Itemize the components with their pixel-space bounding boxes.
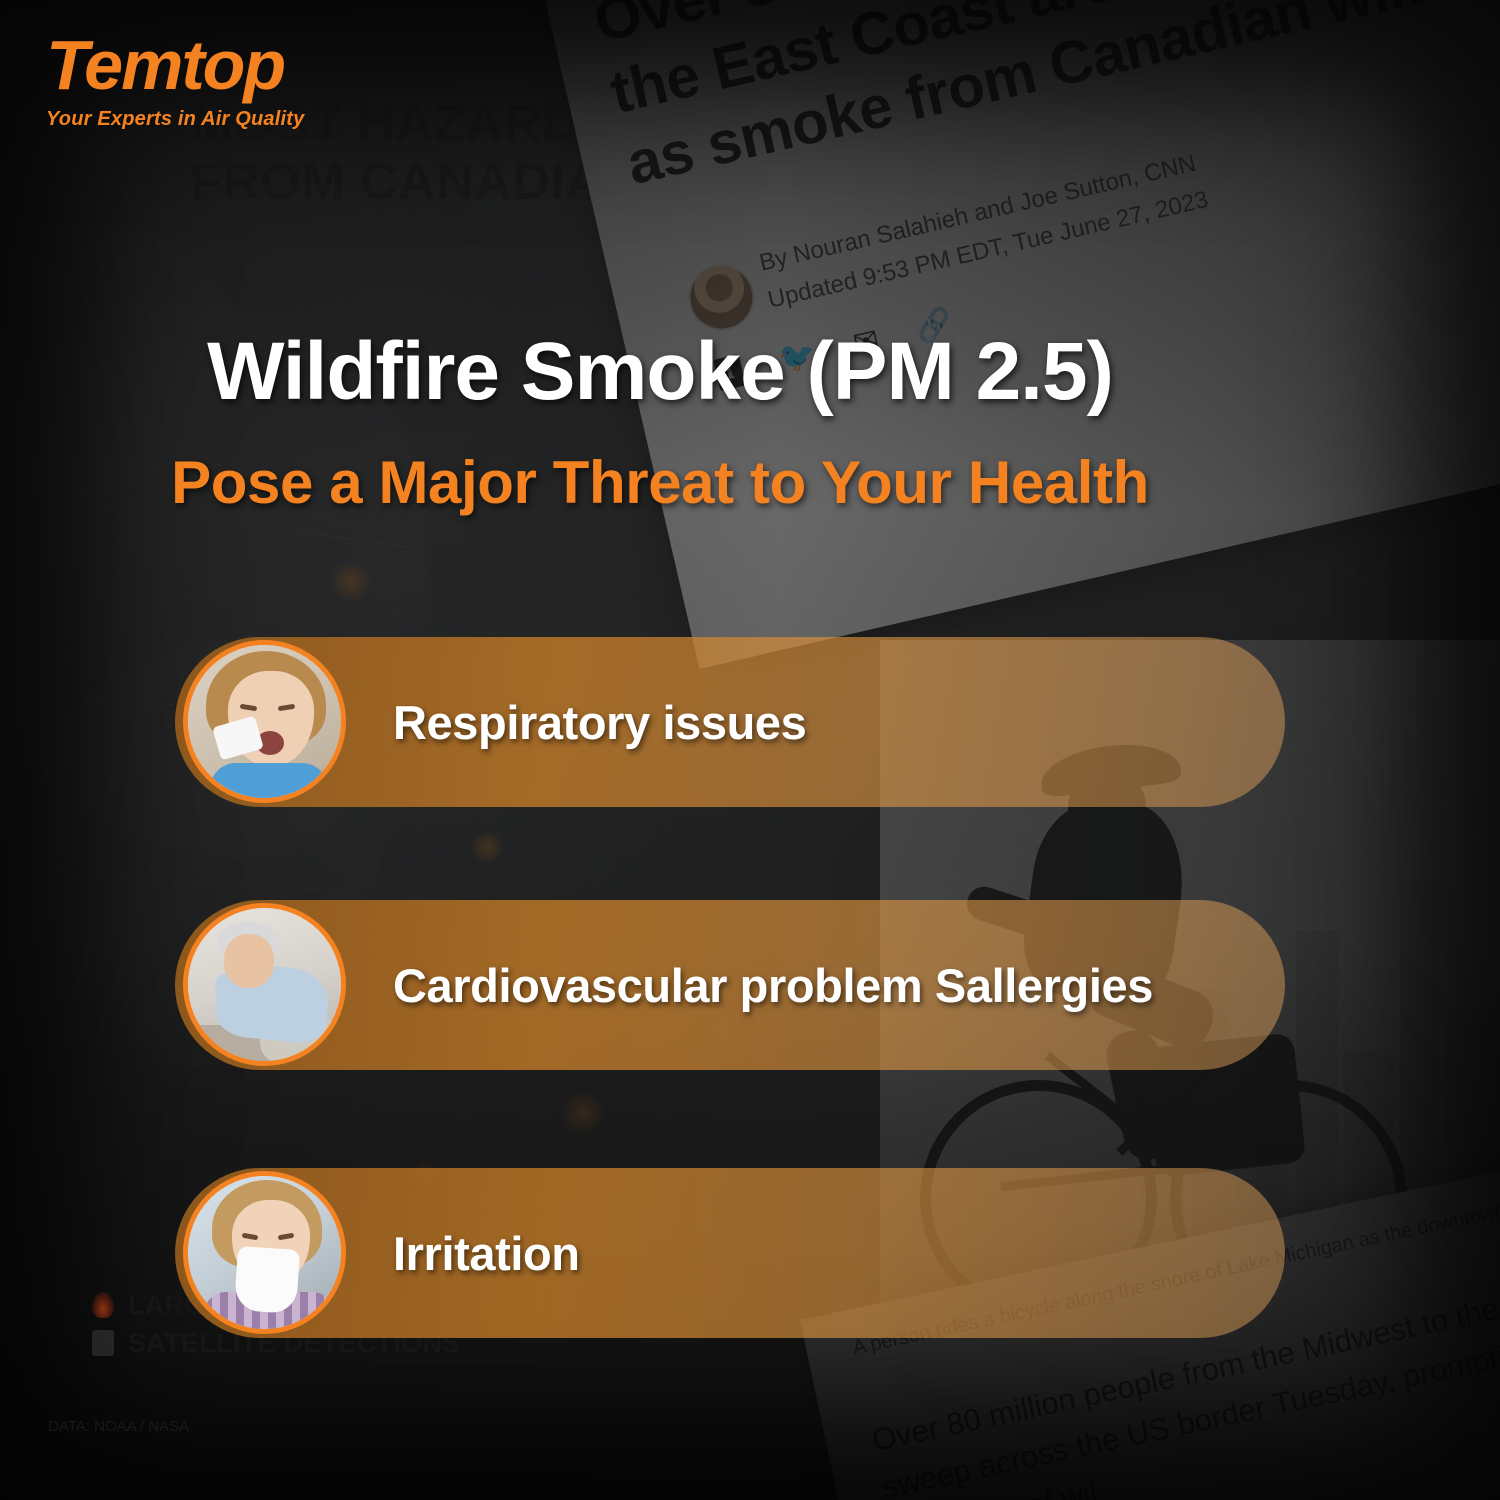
page-subtitle: Pose a Major Threat to Your Health (0, 448, 1320, 517)
health-effect-item-irritation[interactable]: Irritation (175, 1168, 1285, 1338)
health-effect-item-respiratory[interactable]: Respiratory issues (175, 637, 1285, 807)
brand-tagline: Your Experts in Air Quality (46, 108, 304, 131)
health-effect-label: Respiratory issues (393, 695, 806, 750)
girl-blowing-nose-photo (183, 1171, 346, 1334)
health-effect-label: Cardiovascular problem Sallergies (393, 958, 1153, 1013)
satellite-icon (92, 1330, 114, 1356)
temtop-logo[interactable]: Temtop Your Experts in Air Quality (46, 30, 304, 131)
elderly-man-chest-pain-photo (183, 903, 346, 1066)
child-coughing-photo (183, 640, 346, 803)
health-effect-item-cardiovascular[interactable]: Cardiovascular problem Sallergies (175, 900, 1285, 1070)
legend-footnote: DATA: NOAA / NASA (48, 1418, 189, 1435)
brand-name: Temtop (46, 30, 304, 100)
flame-icon (92, 1292, 114, 1318)
page-title: Wildfire Smoke (PM 2.5) (0, 330, 1320, 414)
headline-block: Wildfire Smoke (PM 2.5) Pose a Major Thr… (0, 330, 1320, 517)
infographic-canvas: MOST HAZARDOUS AIR QUALITY FROM CANADIAN… (0, 0, 1500, 1500)
health-effect-label: Irritation (393, 1226, 580, 1281)
